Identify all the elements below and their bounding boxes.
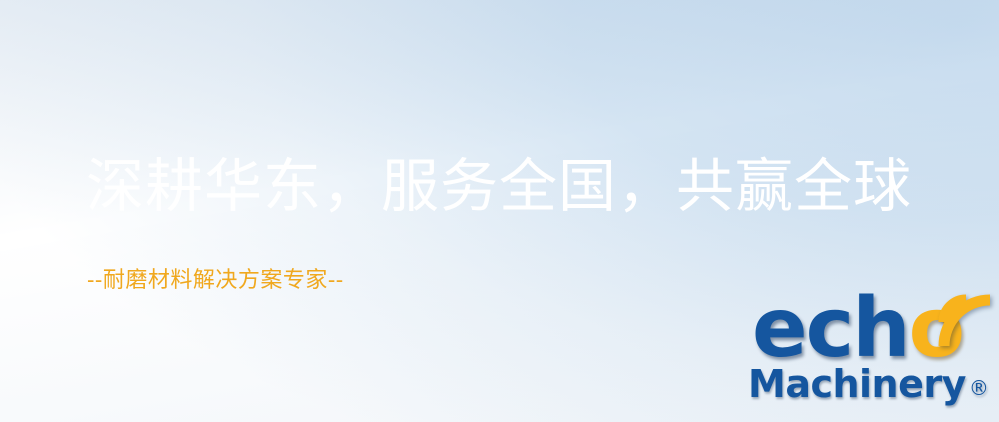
echo-machinery-logo[interactable]: echo Machinery® (748, 288, 998, 418)
logo-tagline: Machinery® (748, 364, 989, 408)
logo-wordmark: echo (752, 288, 963, 370)
signal-wave-icon (934, 290, 998, 350)
registered-trademark-icon: ® (969, 376, 989, 400)
banner-subtitle: --耐磨材料解决方案专家-- (87, 268, 344, 294)
logo-tagline-text: Machinery (748, 362, 966, 406)
promo-banner: 深耕华东，服务全国，共赢全球 --耐磨材料解决方案专家-- echo Machi… (0, 0, 999, 422)
banner-headline: 深耕华东，服务全国，共赢全球 (86, 155, 912, 217)
